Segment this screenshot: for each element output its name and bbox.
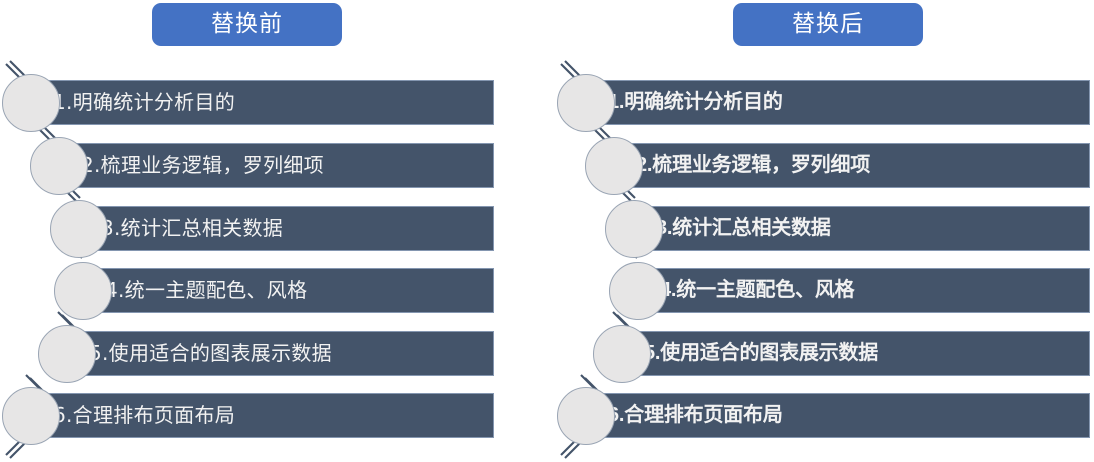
before-panel: 1.明确统计分析目的 2.梳理业务逻辑，罗列细项 3.统计汇总相关数据 4.统一… bbox=[0, 0, 540, 462]
step-node[interactable] bbox=[605, 200, 663, 258]
step-bar: 4.统一主题配色、风格 bbox=[58, 268, 494, 313]
slide-canvas: 替换前 替换后 bbox=[0, 0, 1094, 462]
step-bar: 2.梳理业务逻辑，罗列细项 bbox=[589, 143, 1090, 188]
step-node[interactable] bbox=[30, 137, 88, 195]
step-node[interactable] bbox=[593, 325, 651, 383]
step-node[interactable] bbox=[38, 325, 96, 383]
before-step-list: 1.明确统计分析目的 2.梳理业务逻辑，罗列细项 3.统计汇总相关数据 4.统一… bbox=[0, 0, 540, 462]
step-row[interactable]: 4.统一主题配色、风格 bbox=[555, 268, 1090, 313]
step-bar: 4.统一主题配色、风格 bbox=[613, 268, 1090, 313]
step-row[interactable]: 5.使用适合的图表展示数据 bbox=[0, 331, 494, 376]
step-row[interactable]: 5.使用适合的图表展示数据 bbox=[555, 331, 1090, 376]
step-row[interactable]: 2.梳理业务逻辑，罗列细项 bbox=[0, 143, 494, 188]
step-row[interactable]: 3.统计汇总相关数据 bbox=[0, 206, 494, 251]
step-row[interactable]: 1.明确统计分析目的 bbox=[555, 80, 1090, 125]
step-row[interactable]: 6.合理排布页面布局 bbox=[0, 393, 494, 438]
step-bar: 2.梳理业务逻辑，罗列细项 bbox=[34, 143, 494, 188]
step-row[interactable]: 3.统计汇总相关数据 bbox=[555, 206, 1090, 251]
after-panel: 1.明确统计分析目的 2.梳理业务逻辑，罗列细项 3.统计汇总相关数据 4.统一… bbox=[555, 0, 1094, 462]
step-bar: 5.使用适合的图表展示数据 bbox=[42, 331, 494, 376]
step-bar: 6.合理排布页面布局 bbox=[561, 393, 1090, 438]
step-node[interactable] bbox=[54, 262, 112, 320]
step-node[interactable] bbox=[50, 200, 108, 258]
after-step-list: 1.明确统计分析目的 2.梳理业务逻辑，罗列细项 3.统计汇总相关数据 4.统一… bbox=[555, 0, 1094, 462]
step-row[interactable]: 1.明确统计分析目的 bbox=[0, 80, 494, 125]
step-node[interactable] bbox=[2, 74, 60, 132]
step-bar: 5.使用适合的图表展示数据 bbox=[597, 331, 1090, 376]
step-row[interactable]: 2.梳理业务逻辑，罗列细项 bbox=[555, 143, 1090, 188]
step-bar: 3.统计汇总相关数据 bbox=[54, 206, 494, 251]
step-node[interactable] bbox=[609, 262, 667, 320]
step-row[interactable]: 4.统一主题配色、风格 bbox=[0, 268, 494, 313]
step-node[interactable] bbox=[557, 74, 615, 132]
step-node[interactable] bbox=[2, 387, 60, 445]
step-bar: 3.统计汇总相关数据 bbox=[609, 206, 1090, 251]
step-node[interactable] bbox=[557, 387, 615, 445]
step-row[interactable]: 6.合理排布页面布局 bbox=[555, 393, 1090, 438]
step-node[interactable] bbox=[585, 137, 643, 195]
step-bar: 1.明确统计分析目的 bbox=[561, 80, 1090, 125]
step-bar: 1.明确统计分析目的 bbox=[6, 80, 494, 125]
step-bar: 6.合理排布页面布局 bbox=[6, 393, 494, 438]
